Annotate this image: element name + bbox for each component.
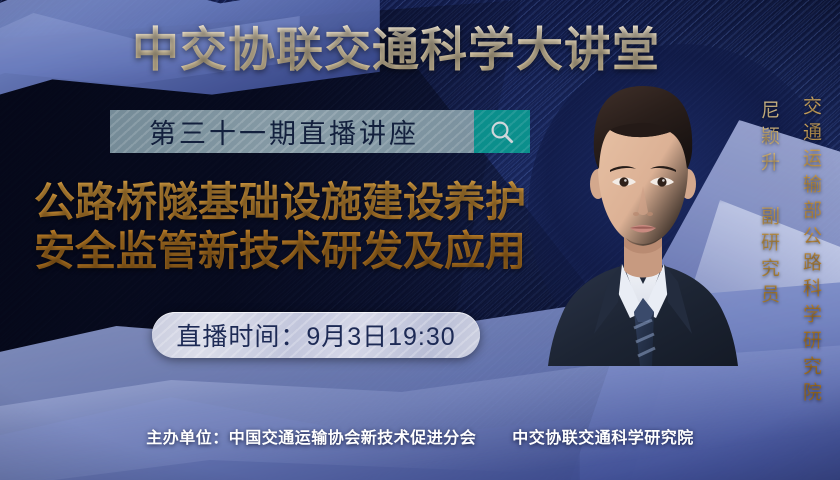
footer-organizer-primary: 主办单位：中国交通运输协会新技术促进分会 [146,430,476,447]
footer-organizers: 主办单位：中国交通运输协会新技术促进分会 中交协联交通科学研究院 [0,424,840,448]
episode-banner: 第三十一期直播讲座 [110,110,530,153]
search-icon [489,119,515,145]
footer-organizer-secondary: 中交协联交通科学研究院 [512,430,694,447]
broadcast-time-text: 直播时间：9月3日19:30 [176,317,455,353]
speaker-name-title: 尼颖升 副研究员 [755,100,782,310]
episode-label: 第三十一期直播讲座 [110,110,474,153]
search-button[interactable] [474,110,530,153]
lecture-title: 公路桥隧基础设施建设养护 安全监管新技术研发及应用 [34,178,594,276]
page-title: 中交协联交通科学大讲堂 [132,20,692,80]
lecture-title-line-2: 安全监管新技术研发及应用 [34,227,594,276]
lecture-title-line-1: 公路桥隧基础设施建设养护 [34,178,594,227]
poster-canvas: 中交协联交通科学大讲堂 第三十一期直播讲座 公路桥隧基础设施建设养护 安全监管新… [0,0,840,480]
poster-content: 中交协联交通科学大讲堂 第三十一期直播讲座 公路桥隧基础设施建设养护 安全监管新… [0,0,840,480]
broadcast-time-badge: 直播时间：9月3日19:30 [152,312,480,358]
speaker-organization: 交通运输部公路科学研究院 [797,96,824,408]
